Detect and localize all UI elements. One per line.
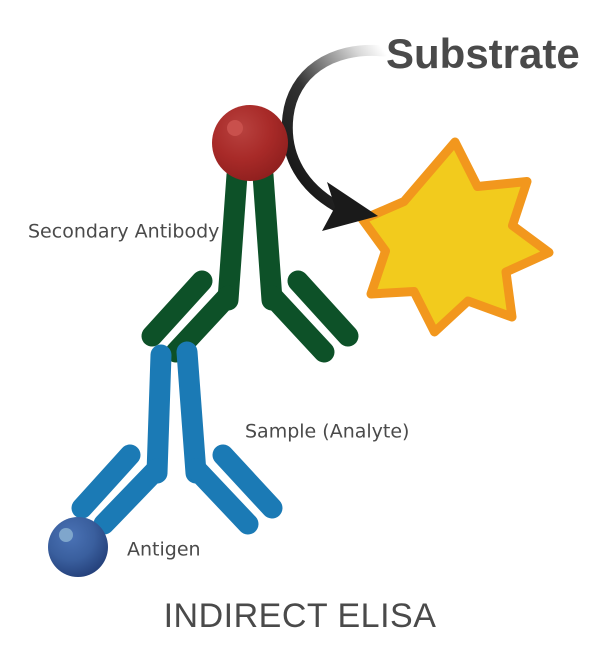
label-sample-analyte: Sample (Analyte) bbox=[245, 421, 409, 443]
secondary-antibody-stem-right bbox=[263, 175, 272, 300]
elisa-illustration: Secondary Antibody Sample (Analyte) Anti… bbox=[0, 0, 600, 672]
primary-antibody-stem-left bbox=[157, 355, 161, 473]
enzyme-sphere bbox=[212, 105, 288, 181]
substrate-star-shape bbox=[363, 142, 550, 332]
reaction-arrow bbox=[287, 50, 384, 231]
antigen-sphere-highlight bbox=[59, 528, 73, 542]
antigen-sphere-body bbox=[48, 517, 108, 577]
label-antigen: Antigen bbox=[127, 539, 201, 561]
secondary-antibody-stem-left bbox=[228, 175, 237, 300]
figure-title: INDIRECT ELISA bbox=[164, 597, 437, 635]
indirect-elisa-diagram: Secondary Antibody Sample (Analyte) Anti… bbox=[0, 0, 600, 672]
secondary-antibody bbox=[152, 175, 348, 352]
primary-antibody-stem-right bbox=[187, 352, 196, 473]
label-substrate: Substrate bbox=[386, 30, 580, 77]
label-secondary-antibody: Secondary Antibody bbox=[28, 221, 219, 243]
antigen-sphere bbox=[48, 517, 108, 577]
enzyme-sphere-highlight bbox=[227, 120, 243, 136]
reaction-arrow-curve bbox=[287, 50, 384, 206]
substrate-star bbox=[363, 142, 550, 332]
enzyme-sphere-body bbox=[212, 105, 288, 181]
primary-antibody bbox=[82, 352, 272, 524]
